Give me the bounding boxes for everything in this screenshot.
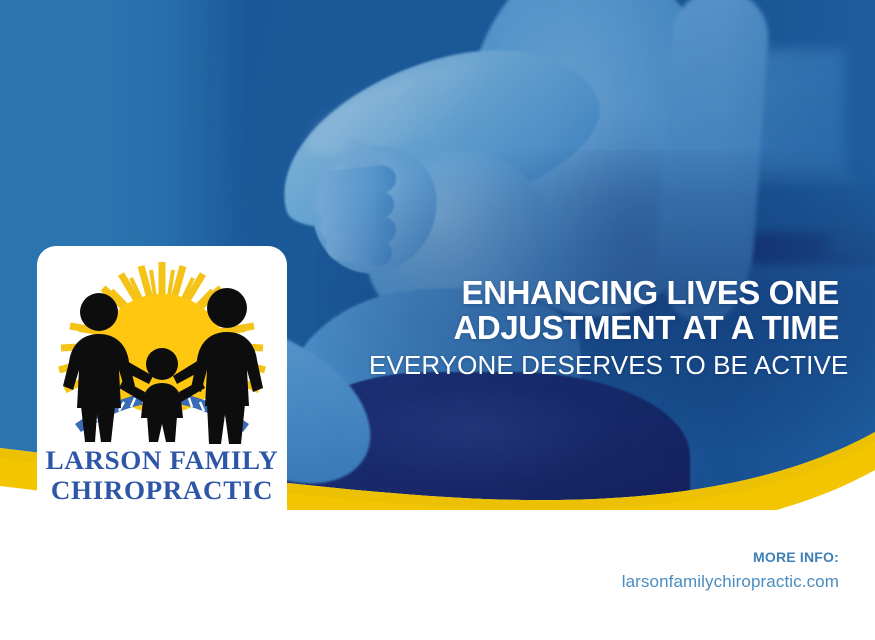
subheadline: EVERYONE DESERVES TO BE ACTIVE [369,350,839,380]
headline-line-2: ADJUSTMENT AT A TIME [369,310,839,345]
logo-card[interactable]: LARSON FAMILY CHIROPRACTIC [37,246,287,536]
poster-canvas: ENHANCING LIVES ONE ADJUSTMENT AT A TIME… [0,0,875,640]
logo-name-line-1: LARSON FAMILY [37,446,287,476]
logo-name-line-2: CHIROPRACTIC [37,476,287,506]
more-info-label: MORE INFO: [622,549,839,565]
headline-line-1: ENHANCING LIVES ONE [369,275,839,310]
headline-block: ENHANCING LIVES ONE ADJUSTMENT AT A TIME… [369,275,839,380]
more-info-block: MORE INFO: larsonfamilychiropractic.com [622,549,839,592]
family-sun-spine-icon [37,256,287,446]
logo-wordmark: LARSON FAMILY CHIROPRACTIC [37,446,287,506]
website-url[interactable]: larsonfamilychiropractic.com [622,572,839,592]
